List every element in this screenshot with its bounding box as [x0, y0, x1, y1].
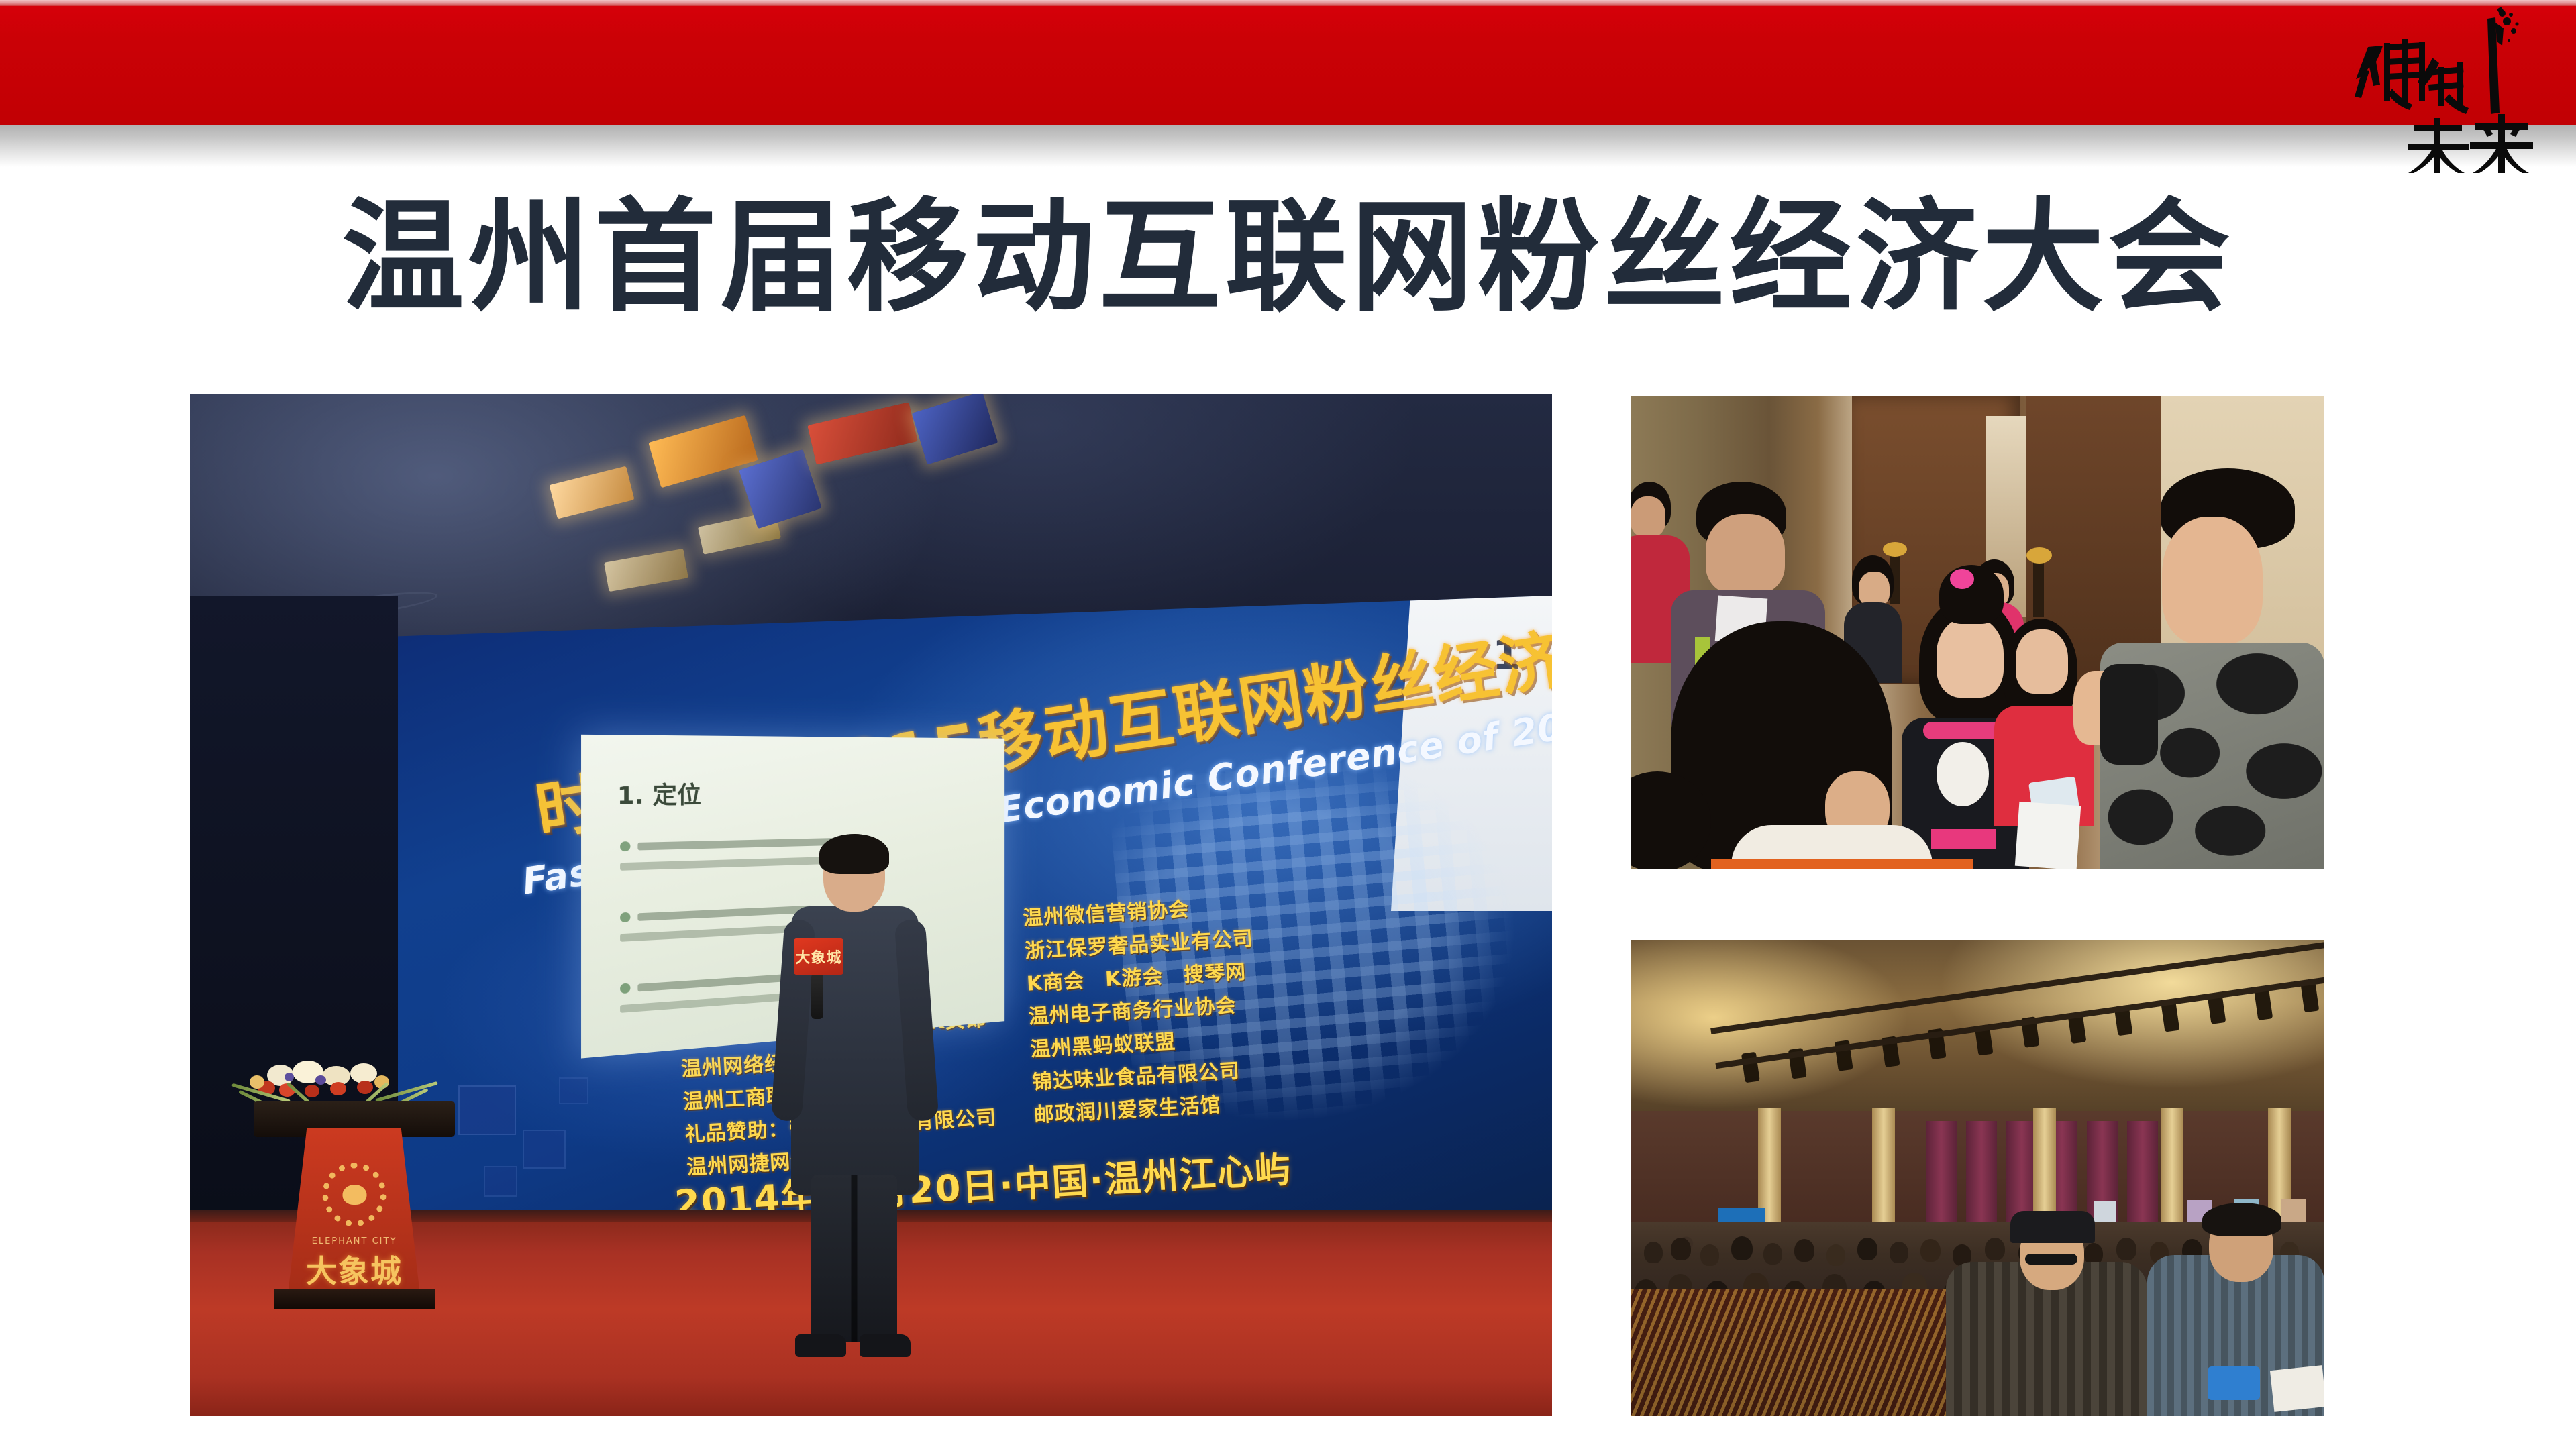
eyeglasses-icon [2025, 1254, 2077, 1265]
speaker-hair [819, 834, 889, 874]
person-face [1859, 572, 1890, 606]
podium: ELEPHANT CITY 大象城 [254, 987, 455, 1302]
trophy-top-icon [2026, 547, 2052, 563]
speaker-shoe [795, 1334, 846, 1357]
person-face [1937, 617, 2004, 698]
podium-base [274, 1289, 435, 1309]
hair-bow-icon [1950, 569, 1974, 589]
conference-hall-audience-photo [1631, 940, 2324, 1416]
person-face [1631, 496, 1665, 537]
attendee-crowd-photo [1631, 396, 2324, 869]
trophy-top-icon [1883, 542, 1907, 557]
smartphone-device [2208, 1366, 2260, 1400]
paper-stack [2015, 802, 2081, 869]
sponsor-column-right: 温州微信营销协会 浙江保罗奢品实业有公司 K商会 K游会 搜琴网 温州电子商务行… [1022, 889, 1265, 1161]
header-shadow-gradient [0, 125, 2576, 167]
podium-brand-cn: 大象城 [254, 1247, 455, 1291]
header-hairline [0, 0, 2576, 6]
trophy [2033, 557, 2044, 617]
speaker-shoe [860, 1334, 911, 1357]
page-title: 温州首届移动互联网粉丝经济大会 [0, 193, 2576, 321]
banner-decorative-squares [458, 1065, 646, 1226]
podium-brand-en: ELEPHANT CITY [254, 1236, 455, 1246]
person-face [2162, 517, 2263, 644]
person-face [1706, 514, 1785, 594]
podium-emblem-icon [323, 1163, 387, 1226]
speaker-legs [811, 1175, 897, 1342]
cap-icon [2010, 1211, 2095, 1243]
microphone-flag: 大象城 [794, 938, 843, 975]
person-sleeve [2100, 664, 2158, 765]
presentation-slide: 温州首届移动互联网粉丝经济大会 1 时尚温州2015移动互联网粉丝经济大会 Fa… [0, 0, 2576, 1449]
foreground-attendee-hair [2202, 1203, 2281, 1236]
header-band [0, 0, 2576, 125]
person-collar [1923, 722, 2004, 739]
speaker-person: 大象城 [774, 839, 941, 1362]
microphone-flag-label: 大象城 [794, 938, 843, 975]
handout-paper [2270, 1365, 2324, 1412]
stage-keynote-photo: 1 时尚温州2015移动互联网粉丝经济大会 Fashion fans Wenzh… [190, 394, 1552, 1416]
shirt-graphic [1937, 742, 1989, 806]
projection-slide-title: 1. 定位 [617, 775, 701, 810]
microphone-handle [811, 973, 823, 1019]
foreground-person-coat [1711, 859, 1973, 869]
person-belt [1931, 829, 1996, 849]
person-face [2016, 629, 2068, 694]
